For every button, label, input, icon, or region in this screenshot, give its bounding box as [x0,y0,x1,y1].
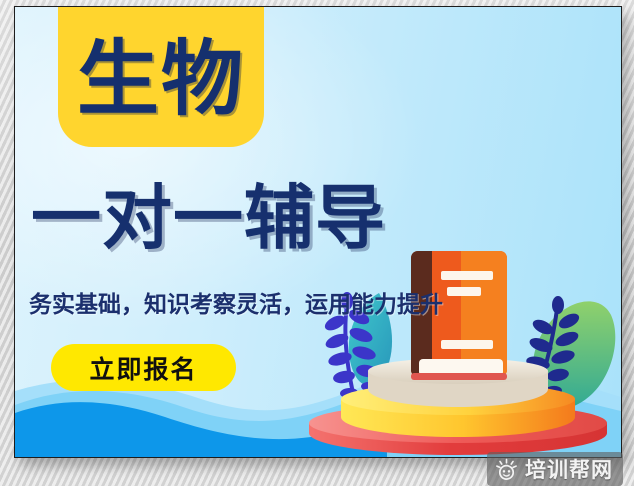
enroll-now-button[interactable]: 立即报名 [51,344,236,391]
subject-badge: 生物 [58,6,264,147]
subject-badge-label: 生物 [77,39,245,147]
page-title: 一对一辅导 [31,183,501,253]
sun-smiley-icon [495,458,518,481]
subtitle-text: 务实基础，知识考察灵活，运用能力提升 [29,293,443,318]
watermark: 培训帮网 [487,452,623,486]
enroll-now-label: 立即报名 [89,350,197,386]
watermark-text: 培训帮网 [525,454,613,484]
book-podium-illustration [295,247,621,457]
promo-banner: 生物 一对一辅导 务实基础，知识考察灵活，运用能力提升 立即报名 [14,6,622,458]
